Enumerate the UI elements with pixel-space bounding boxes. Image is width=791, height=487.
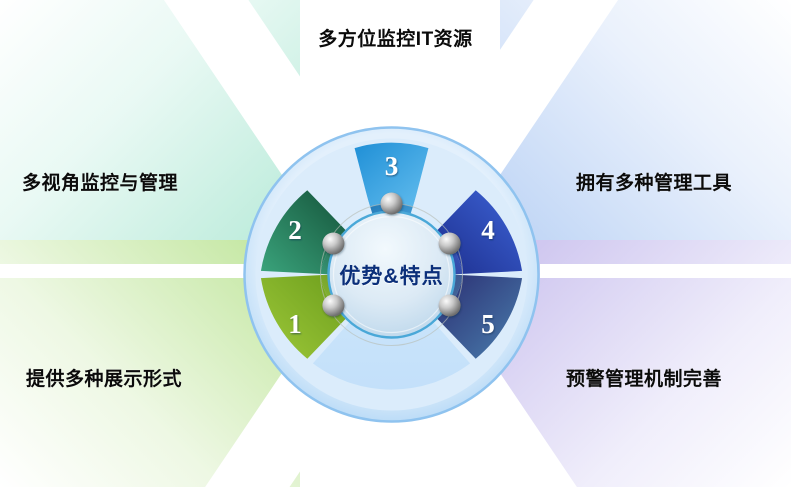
center-disc[interactable]	[329, 212, 455, 338]
marker-sphere-2	[322, 233, 344, 255]
donut-chart: 3 4 5 1 2	[243, 126, 540, 423]
segment-number-1: 1	[288, 309, 302, 339]
marker-sphere-5	[439, 295, 461, 317]
label-top: 多方位监控IT资源	[0, 24, 791, 51]
segment-number-3: 3	[385, 151, 399, 181]
label-left-bottom: 提供多种展示形式	[26, 364, 182, 391]
separator-middle-left	[0, 264, 250, 278]
segment-number-2: 2	[288, 215, 302, 245]
infographic-canvas: 3 4 5 1 2 优势&特点 多方位监控IT资源 多视角监控与管理 提供多种展…	[0, 0, 791, 487]
label-right-top: 拥有多种管理工具	[576, 168, 732, 195]
marker-sphere-3	[381, 193, 403, 215]
marker-sphere-4	[439, 233, 461, 255]
label-left-top: 多视角监控与管理	[22, 168, 178, 195]
marker-sphere-1	[322, 295, 344, 317]
separator-middle-right	[540, 264, 791, 278]
segment-number-5: 5	[481, 309, 495, 339]
label-right-bottom: 预警管理机制完善	[566, 364, 722, 391]
segment-number-4: 4	[481, 215, 495, 245]
